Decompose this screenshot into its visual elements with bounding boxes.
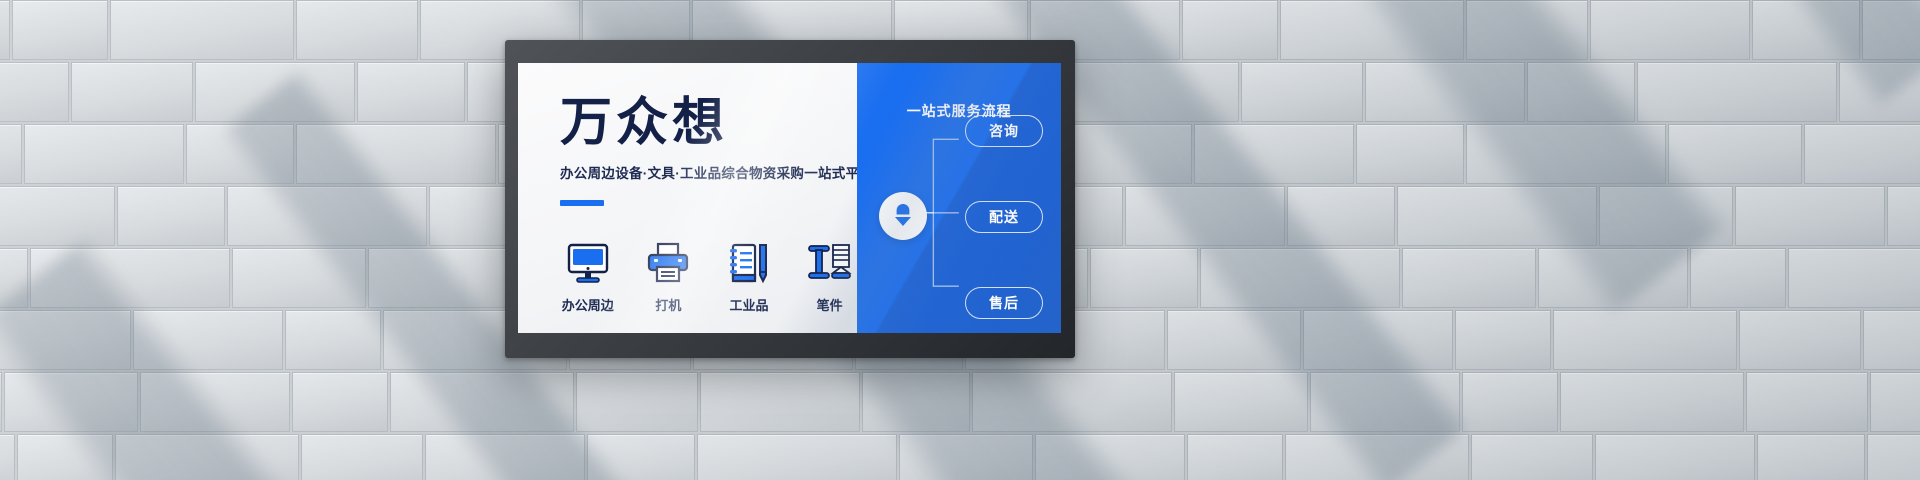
category-list: 办公周边 [560,236,857,314]
printer-icon [641,236,697,286]
screenshot-stage: 万众想 办公周边设备·文具·工业品综合物资采购一站式平台 [0,0,1920,480]
category-label: 工业品 [721,295,777,314]
flow-step-delivery[interactable]: 配送 [965,201,1043,233]
flow-step-label: 售后 [989,293,1019,313]
category-item-industrial[interactable]: 工业品 [721,236,777,314]
brand-panel: 万众想 办公周边设备·文具·工业品综合物资采购一站式平台 [518,63,857,333]
page-title: 万众想 [560,97,857,149]
flow-step-consult[interactable]: 咨询 [965,115,1043,147]
category-item-printer[interactable]: 打机 [641,236,697,314]
notebook-pen-icon [721,236,777,286]
category-item-hardware[interactable]: 笔件 [802,236,858,314]
subtitle: 办公周边设备·文具·工业品综合物资采购一站式平台 [560,162,857,182]
billboard-frame: 万众想 办公周边设备·文具·工业品综合物资采购一站式平台 [505,40,1075,358]
category-item-office[interactable]: 办公周边 [560,236,616,314]
flow-step-label: 配送 [989,207,1019,227]
monitor-icon [560,236,616,286]
location-pin-download-icon [879,192,927,240]
category-label: 办公周边 [560,295,616,314]
flow-step-aftersales[interactable]: 售后 [965,287,1043,319]
category-label: 打机 [641,295,697,314]
flow-step-label: 咨询 [989,121,1019,141]
accent-rule [560,200,604,206]
service-flow-panel: 一站式服务流程 咨询 配送 [857,63,1061,333]
category-label: 笔件 [802,295,858,314]
hardware-tools-icon [802,236,858,286]
billboard-screen: 万众想 办公周边设备·文具·工业品综合物资采购一站式平台 [518,63,1061,333]
